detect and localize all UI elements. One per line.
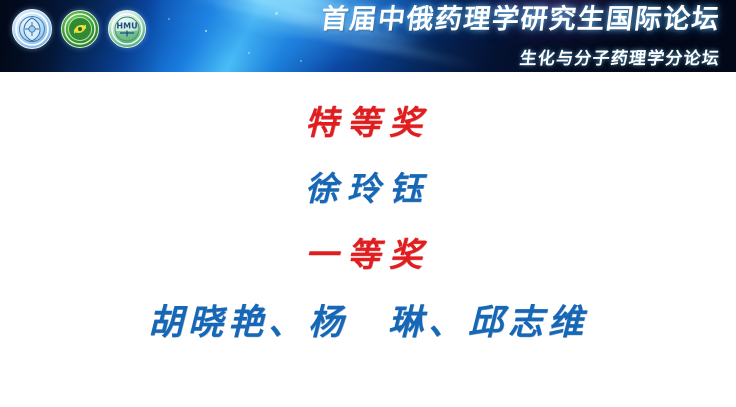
slide-banner: HMU 首届中俄药理学研究生国际论坛 生化与分子药理学分论坛 xyxy=(0,0,736,72)
award-title-first: 一等奖 xyxy=(0,228,736,276)
award-winners-first: 胡晓艳、杨 琳、邱志维 xyxy=(0,294,736,345)
university-emblem-blue-icon xyxy=(12,9,52,49)
award-title-special: 特等奖 xyxy=(0,96,736,144)
presentation-slide: HMU 首届中俄药理学研究生国际论坛 生化与分子药理学分论坛 特等奖 徐玲钰 一… xyxy=(0,0,736,407)
award-winner-special: 徐玲钰 xyxy=(0,162,736,210)
sparkle-dot xyxy=(168,18,170,20)
banner-title: 首届中俄药理学研究生国际论坛 xyxy=(319,6,721,34)
pharmacology-society-emblem-green-icon xyxy=(61,10,99,48)
slide-body: 特等奖 徐玲钰 一等奖 胡晓艳、杨 琳、邱志维 xyxy=(0,72,736,407)
hmu-emblem-icon: HMU xyxy=(108,10,146,48)
sparkle-dot xyxy=(205,30,207,32)
sparkle-dot xyxy=(248,52,250,54)
banner-subtitle: 生化与分子药理学分论坛 xyxy=(518,44,721,69)
sparkle-dot xyxy=(275,12,278,15)
organizer-logo-group: HMU xyxy=(12,9,146,49)
sparkle-dot xyxy=(300,60,302,62)
svg-text:HMU: HMU xyxy=(116,22,137,31)
